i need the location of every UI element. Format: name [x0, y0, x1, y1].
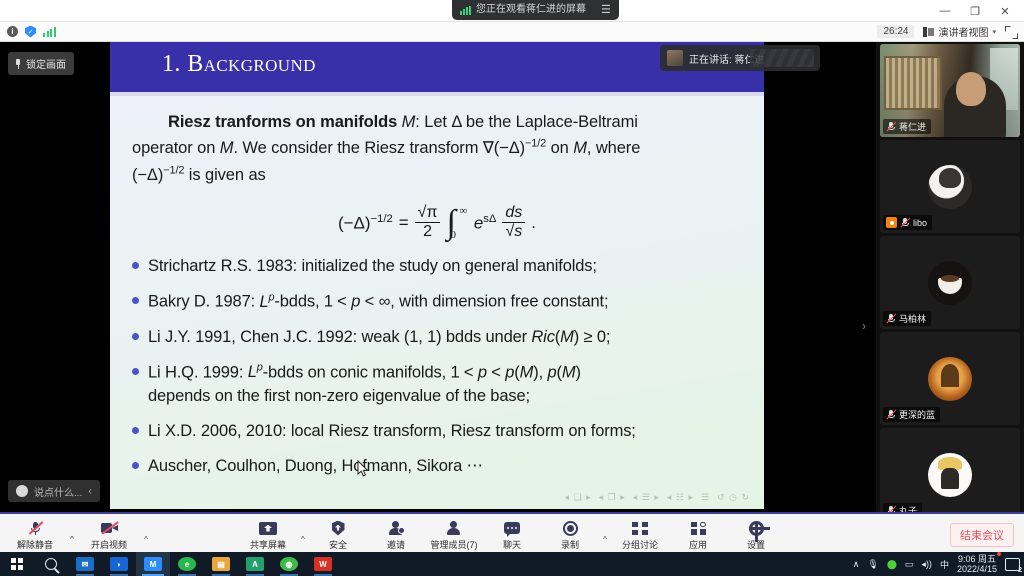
edge-app-icon[interactable]: e: [170, 552, 204, 576]
participant-tile[interactable]: 马柏林: [880, 236, 1020, 329]
next-page-arrow-icon[interactable]: ›: [862, 319, 866, 333]
audio-options-chevron-icon[interactable]: ^: [66, 525, 78, 544]
participant-name: 更深的蓝: [899, 408, 935, 421]
window-controls: — ❐ ✕: [930, 0, 1020, 22]
status-left-icons: i ✓: [0, 26, 56, 38]
bullet-text: Li X.D. 2006, 2010: local Riesz transfor…: [148, 420, 636, 444]
manage-participants-label: 管理成员(7): [431, 538, 478, 551]
participant-label: 丸子: [883, 503, 922, 512]
breakout-rooms-button[interactable]: 分组讨论: [611, 517, 669, 551]
record-button[interactable]: 录制: [541, 517, 599, 551]
bullet-text: Strichartz R.S. 1983: initialized the st…: [148, 255, 597, 279]
intro-line1: : Let Δ be the Laplace-Beltrami: [415, 113, 638, 131]
wps-office-icon[interactable]: W: [306, 552, 340, 576]
participant-tile[interactable]: libo: [880, 140, 1020, 233]
bullet-text: Bakry D. 1987: Lp-bdds, 1 < p < ∞, with …: [148, 290, 608, 314]
gear-icon: [749, 520, 764, 536]
chat-collapse-icon[interactable]: ‹: [88, 486, 91, 497]
avatar: [928, 357, 972, 401]
slide-section-number: 1.: [162, 51, 181, 77]
person-face: [956, 72, 986, 106]
toolbar-left-group: 解除静音 ^ 开启视频 ^: [6, 517, 152, 551]
browser-app-icon[interactable]: ◗: [102, 552, 136, 576]
slide-formula: (−Δ)−1/2 = √π 2 ∫∞0 esΔ ds √s .: [132, 205, 742, 242]
manage-participants-button[interactable]: 管理成员(7): [425, 517, 483, 551]
settings-button[interactable]: 设置: [727, 517, 785, 551]
slide-bullet-list: Strichartz R.S. 1983: initialized the st…: [132, 255, 742, 478]
speaker-view-icon: [923, 27, 934, 37]
chevron-down-icon: ▾: [992, 28, 996, 36]
view-mode-selector[interactable]: 演讲者视图 ▾: [923, 24, 996, 39]
record-label: 录制: [561, 538, 579, 551]
slide-title: 1. Background: [162, 51, 316, 78]
nav-toc-icon[interactable]: ☰: [701, 492, 710, 503]
system-tray: ∧ 🎙 ⬤ ▭ ◂)) 中 9:06 周五 2022/4/15 2: [853, 552, 1020, 576]
info-icon[interactable]: i: [7, 26, 18, 37]
formula-period: .: [531, 213, 536, 233]
record-options-chevron-icon[interactable]: ^: [599, 525, 611, 544]
formula-ds-numerator: ds: [502, 205, 525, 224]
notification-dot: [997, 552, 1001, 556]
mic-muted-icon: [886, 506, 896, 513]
avatar: [928, 261, 972, 305]
bullet-dot-icon: [132, 333, 139, 340]
formula-integral-sign: ∫∞0: [446, 209, 455, 236]
participant-name: 丸子: [899, 504, 917, 512]
invite-person-icon: [389, 520, 404, 536]
share-screen-label: 共享屏幕: [250, 538, 286, 551]
nav-slide-group[interactable]: ◂ ❑ ▸: [565, 492, 592, 503]
invite-button[interactable]: 邀请: [367, 517, 425, 551]
mic-muted-icon: [29, 520, 42, 536]
maximize-button[interactable]: ❐: [960, 0, 990, 22]
nav-frame-group[interactable]: ◂ ❐ ▸: [599, 492, 626, 503]
integral-lower-limit: 0: [450, 231, 456, 240]
breakout-rooms-icon: [632, 520, 648, 536]
invite-label: 邀请: [387, 538, 405, 551]
pdf-reader-icon[interactable]: A: [238, 552, 272, 576]
intro-line3: (−Δ)−1/2 is given as: [132, 166, 266, 184]
list-item: Strichartz R.S. 1983: initialized the st…: [132, 255, 742, 279]
list-item: Li X.D. 2006, 2010: local Riesz transfor…: [132, 420, 742, 444]
clock-time: 9:06 周五: [957, 554, 997, 564]
search-button[interactable]: [34, 552, 68, 576]
shared-screen-stage: 锁定画面 1. Background Riesz tranforms on ma…: [0, 42, 876, 512]
intro-lead: Riesz tranforms on manifolds: [168, 113, 397, 131]
meeting-toolbar: 解除静音 ^ 开启视频 ^ 共享屏幕 ^ 安全 邀: [0, 512, 1024, 552]
lock-screen-button[interactable]: 锁定画面: [8, 52, 74, 75]
formula-integrand: esΔ: [474, 213, 497, 234]
beamer-navigation-symbols[interactable]: ◂ ❑ ▸ ◂ ❐ ▸ ◂ ☰ ▸ ◂ ☷ ▸ ☰ ↺ ◷ ↻: [565, 492, 750, 503]
action-center-icon[interactable]: 2: [1005, 558, 1020, 571]
ime-indicator[interactable]: 中: [940, 558, 949, 571]
status-right-controls: 26:24 演讲者视图 ▾: [877, 24, 1024, 39]
apps-button[interactable]: 应用: [669, 517, 727, 551]
emoji-icon[interactable]: [16, 485, 28, 497]
screen-share-notice-text: 您正在观看蒋仁进的屏幕: [476, 5, 586, 15]
camera-off-icon: [101, 520, 118, 536]
network-signal-icon[interactable]: [43, 26, 56, 37]
toolbar-center-group: 共享屏幕 ^ 安全 邀请 管理成员(7) 聊天 录制: [239, 517, 785, 551]
video-toggle-button[interactable]: 开启视频: [80, 517, 138, 551]
participant-name: libo: [913, 218, 927, 228]
view-mode-label: 演讲者视图: [938, 24, 988, 39]
meeting-timer: 26:24: [877, 25, 914, 38]
close-button[interactable]: ✕: [990, 0, 1020, 22]
slide-intro-paragraph: Riesz tranforms on manifolds M: Let Δ be…: [132, 110, 742, 189]
record-icon: [563, 520, 578, 536]
tray-expand-icon[interactable]: ∧: [853, 559, 860, 570]
participant-label: 马柏林: [883, 311, 931, 326]
speaker-video-preview: [750, 49, 814, 67]
formula-fraction-ds-over-sqrts: ds √s: [502, 205, 525, 242]
share-options-chevron-icon[interactable]: ^: [297, 525, 309, 544]
clock-date: 2022/4/15: [957, 564, 997, 574]
bookshelf-background: [884, 56, 942, 110]
avatar: [928, 165, 972, 209]
formula-ds-denominator: √s: [502, 223, 525, 241]
mic-muted-icon: [900, 218, 910, 228]
profile-photo-icon: [886, 217, 897, 228]
bullet-dot-icon: [132, 427, 139, 434]
participant-label: 蒋仁进: [883, 119, 931, 134]
anime-avatar-image: [928, 453, 972, 497]
end-meeting-button[interactable]: 结束会议: [950, 523, 1014, 547]
wechat-app-icon[interactable]: ◍: [272, 552, 306, 576]
mouse-cursor: [357, 460, 370, 477]
slide-body: Riesz tranforms on manifolds M: Let Δ be…: [110, 96, 764, 479]
nav-subsection-group[interactable]: ◂ ☰ ▸: [633, 492, 660, 503]
bullet-dot-icon: [132, 297, 139, 304]
participant-tile[interactable]: 蒋仁进: [880, 44, 1020, 137]
active-speaker-badge: 正在讲话: 蒋仁进: [660, 45, 820, 71]
avatar: [928, 453, 972, 497]
windows-taskbar: ✉ ◗ M e ▤ A ◍ W ∧ 🎙 ⬤ ▭ ◂)) 中 9:06 周五 20…: [0, 552, 1024, 576]
security-label: 安全: [329, 538, 347, 551]
slide-title-text: Background: [187, 51, 316, 77]
bullet-dot-icon: [132, 462, 139, 469]
mic-muted-icon: [886, 314, 896, 324]
mic-muted-icon: [886, 122, 896, 132]
participant-name: 蒋仁进: [899, 120, 926, 133]
list-item: Auscher, Coulhon, Duong, Hofmann, Sikora…: [132, 455, 742, 479]
chat-icon: [504, 520, 520, 536]
chat-quick-reply[interactable]: 说点什么... ‹: [8, 480, 100, 502]
chat-label: 聊天: [503, 538, 521, 551]
participant-name: 马柏林: [899, 312, 926, 325]
presentation-slide: 1. Background Riesz tranforms on manifol…: [110, 42, 764, 509]
volume-tray-icon[interactable]: ◂)): [921, 559, 932, 570]
coffee-avatar-image: [928, 261, 972, 305]
file-explorer-icon[interactable]: ▤: [204, 552, 238, 576]
clock[interactable]: 9:06 周五 2022/4/15: [957, 554, 997, 574]
formula-equals: =: [399, 213, 409, 233]
intro-lead-italic: M: [402, 113, 416, 131]
participant-label: libo: [883, 215, 932, 230]
share-options-menu-icon[interactable]: ☰: [601, 5, 611, 16]
shield-icon: [332, 520, 345, 536]
meeting-status-bar: i ✓ 26:24 演讲者视图 ▾: [0, 22, 1024, 42]
formula-frac-denominator: 2: [420, 223, 435, 241]
encryption-shield-icon[interactable]: ✓: [25, 26, 36, 38]
integral-upper-limit: ∞: [459, 207, 467, 216]
video-toggle-label: 开启视频: [91, 538, 127, 551]
apps-label: 应用: [689, 538, 707, 551]
list-item: Bakry D. 1987: Lp-bdds, 1 < p < ∞, with …: [132, 290, 742, 314]
signal-bars-icon: [460, 6, 471, 15]
participant-label: 更深的蓝: [883, 407, 940, 422]
video-options-chevron-icon[interactable]: ^: [140, 525, 152, 544]
participant-video-strip[interactable]: 蒋仁进 libo 马柏林 更深的蓝: [876, 42, 1024, 512]
participant-tile[interactable]: 更深的蓝: [880, 332, 1020, 425]
start-button[interactable]: [0, 552, 34, 576]
share-screen-icon: [259, 520, 277, 536]
breakout-rooms-label: 分组讨论: [622, 538, 658, 551]
apps-icon: [691, 520, 706, 536]
arch-avatar-image: [928, 357, 972, 401]
formula-lhs: (−Δ)−1/2: [338, 213, 393, 234]
mute-toggle-label: 解除静音: [17, 538, 53, 551]
bullet-text: Li J.Y. 1991, Chen J.C. 1992: weak (1, 1…: [148, 326, 610, 350]
mute-toggle-button[interactable]: 解除静音: [6, 517, 64, 551]
mic-muted-icon: [886, 410, 896, 420]
speaker-thumbnail: [667, 50, 683, 66]
intro-line2: operator on M. We consider the Riesz tra…: [132, 139, 640, 157]
nav-back-search-forward[interactable]: ↺ ◷ ↻: [717, 492, 750, 503]
participants-icon: [447, 520, 462, 536]
chat-placeholder-text: 说点什么...: [34, 484, 82, 499]
bullet-dot-icon: [132, 262, 139, 269]
microphone-tray-icon[interactable]: 🎙: [867, 559, 878, 570]
share-screen-button[interactable]: 共享屏幕: [239, 517, 297, 551]
taskbar-app-icons: ✉ ◗ M e ▤ A ◍ W: [0, 552, 340, 576]
fullscreen-icon[interactable]: [1005, 26, 1016, 37]
window-titlebar: 您正在观看蒋仁进的屏幕 ☰ — ❐ ✕: [0, 0, 1024, 22]
bullet-text: Auscher, Coulhon, Duong, Hofmann, Sikora…: [148, 455, 483, 479]
screen-share-notice[interactable]: 您正在观看蒋仁进的屏幕 ☰: [452, 0, 619, 20]
list-item: Li J.Y. 1991, Chen J.C. 1992: weak (1, 1…: [132, 326, 742, 350]
formula-fraction-sqrtpi-over-2: √π 2: [415, 205, 441, 242]
lock-screen-label: 锁定画面: [26, 56, 66, 71]
zoom-app-icon[interactable]: M: [136, 552, 170, 576]
bullet-text: Li H.Q. 1999: Lp-bdds on conic manifolds…: [148, 361, 581, 409]
mail-app-icon[interactable]: ✉: [68, 552, 102, 576]
minimize-button[interactable]: —: [930, 0, 960, 22]
list-item: Li H.Q. 1999: Lp-bdds on conic manifolds…: [132, 361, 742, 409]
chat-button[interactable]: 聊天: [483, 517, 541, 551]
pin-icon: [14, 59, 22, 69]
security-button[interactable]: 安全: [309, 517, 367, 551]
nav-section-group[interactable]: ◂ ☷ ▸: [667, 492, 694, 503]
participant-tile[interactable]: 丸子: [880, 428, 1020, 512]
formula-frac-numerator: √π: [415, 205, 441, 224]
battery-tray-icon[interactable]: ▭: [905, 559, 914, 570]
zoom-meeting-window: 您正在观看蒋仁进的屏幕 ☰ — ❐ ✕ i ✓ 26:24 演讲者视图 ▾: [0, 0, 1024, 552]
cat-avatar-image: [928, 165, 972, 209]
update-tray-icon[interactable]: ⬤: [887, 559, 897, 570]
bullet-dot-icon: [132, 368, 139, 375]
